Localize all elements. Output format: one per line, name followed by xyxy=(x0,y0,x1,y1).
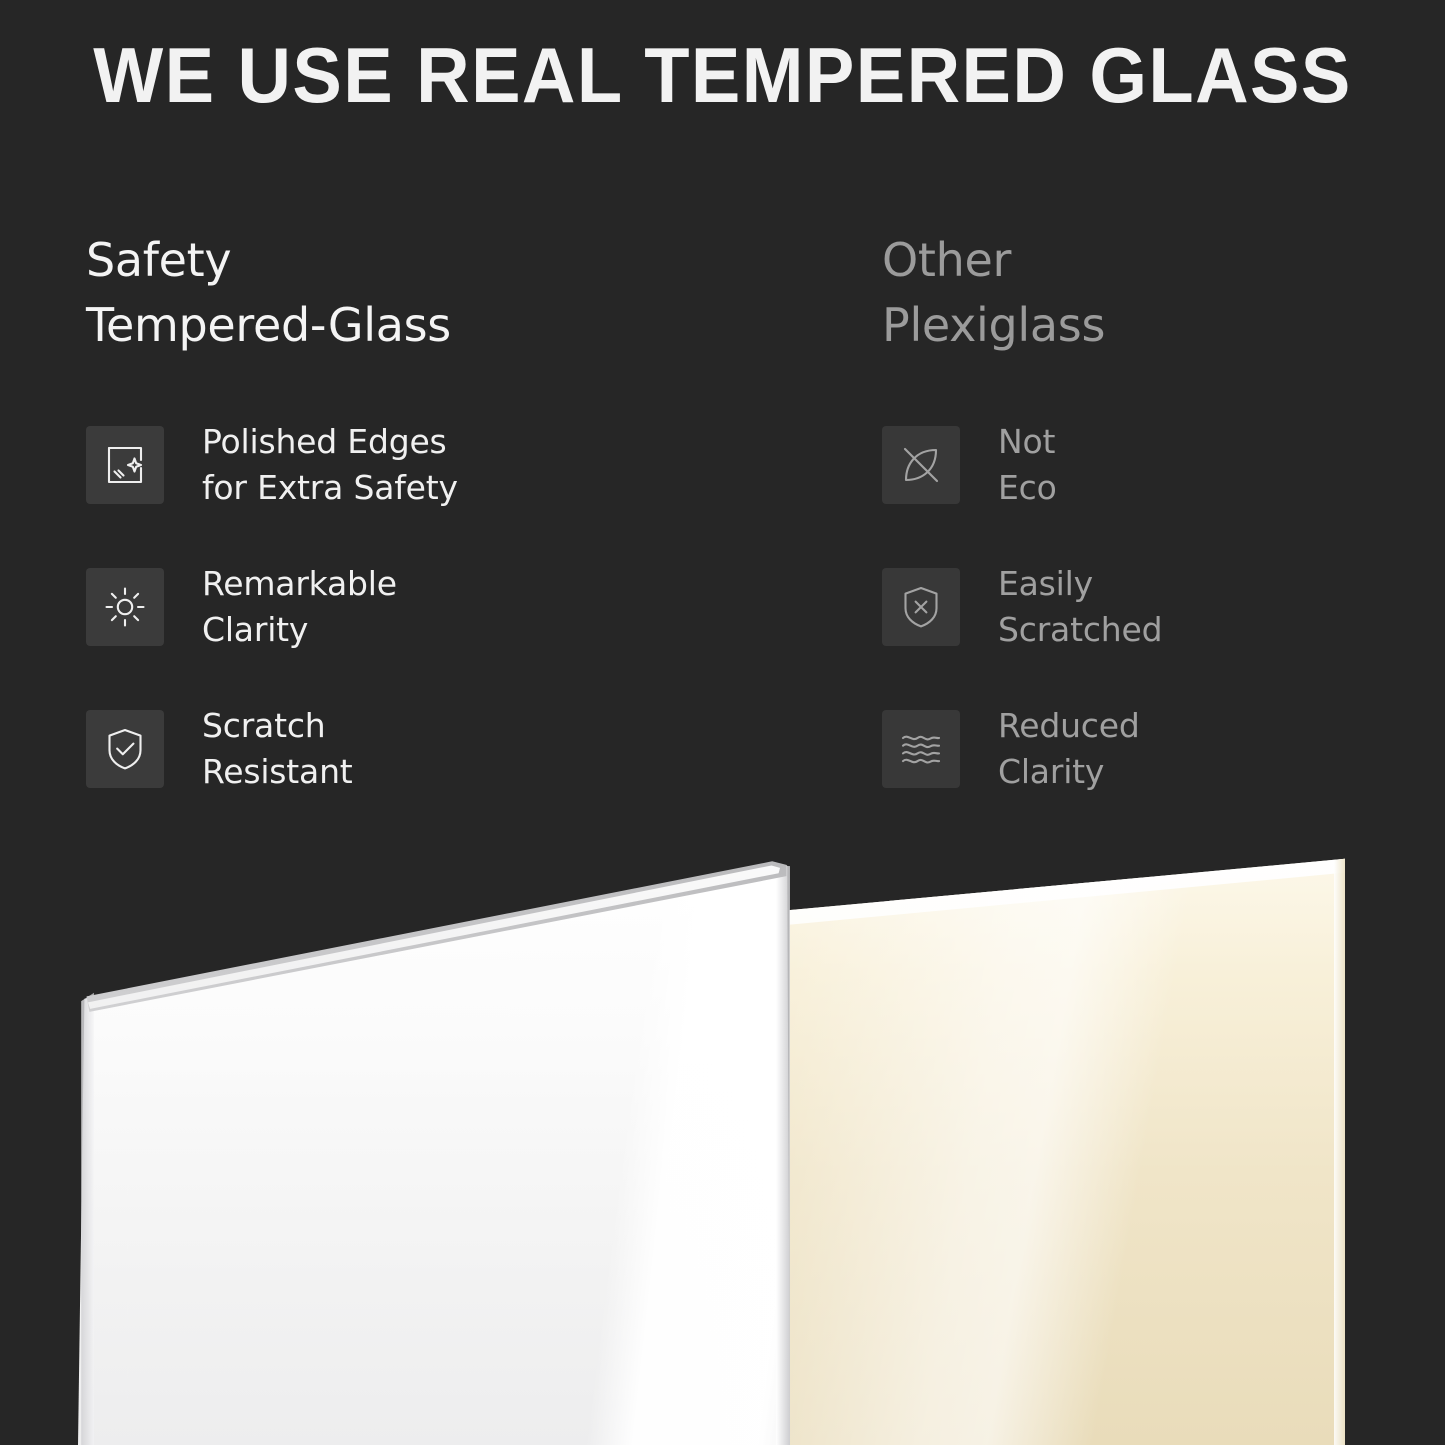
plexiglass-panel-surface xyxy=(789,840,1345,1445)
icon-tile xyxy=(882,426,960,504)
feature-polished-edges: Polished Edges for Extra Safety xyxy=(86,415,846,515)
column-safety-tempered-glass: Safety Tempered-Glass xyxy=(86,228,846,799)
tempered-glass-panel xyxy=(78,850,790,1445)
feature-label: Remarkable Clarity xyxy=(202,561,397,651)
leaf-crossed-out-icon xyxy=(898,442,944,488)
sun-brightness-icon xyxy=(102,584,148,630)
feature-label: Not Eco xyxy=(998,419,1057,509)
feature-easily-scratched: Easily Scratched xyxy=(882,557,1422,657)
icon-tile xyxy=(882,568,960,646)
feature-reduced-clarity: Reduced Clarity xyxy=(882,699,1422,799)
column-other-plexiglass: Other Plexiglass Not Eco xyxy=(882,228,1422,799)
feature-scratch-resistant: Scratch Resistant xyxy=(86,699,846,799)
feature-label: Polished Edges for Extra Safety xyxy=(202,419,458,509)
icon-tile xyxy=(86,710,164,788)
feature-label: Easily Scratched xyxy=(998,561,1162,651)
icon-tile xyxy=(86,568,164,646)
feature-not-eco: Not Eco xyxy=(882,415,1422,515)
infographic-page: WE USE REAL TEMPERED GLASS Safety Temper… xyxy=(0,0,1445,1445)
comparison-columns: Safety Tempered-Glass xyxy=(0,228,1445,848)
feature-remarkable-clarity: Remarkable Clarity xyxy=(86,557,846,657)
feature-label: Scratch Resistant xyxy=(202,703,353,793)
tempered-glass-panel-right-edge xyxy=(776,850,790,1445)
icon-tile xyxy=(882,710,960,788)
column-heading-right: Other Plexiglass xyxy=(882,228,1422,359)
feature-label: Reduced Clarity xyxy=(998,703,1140,793)
feature-list-left: Polished Edges for Extra Safety xyxy=(86,415,846,799)
polished-glass-sparkle-icon xyxy=(102,442,148,488)
plexiglass-panel xyxy=(789,840,1345,1445)
wavy-lines-distortion-icon xyxy=(898,726,944,772)
shield-check-icon xyxy=(102,726,148,772)
page-title: WE USE REAL TEMPERED GLASS xyxy=(36,36,1409,114)
plexiglass-panel-right-edge xyxy=(1334,840,1345,1445)
column-heading-left: Safety Tempered-Glass xyxy=(86,228,846,359)
feature-list-right: Not Eco Easily Scratched xyxy=(882,415,1422,799)
shield-x-icon xyxy=(898,584,944,630)
glass-panels-photo xyxy=(0,840,1445,1445)
icon-tile xyxy=(86,426,164,504)
